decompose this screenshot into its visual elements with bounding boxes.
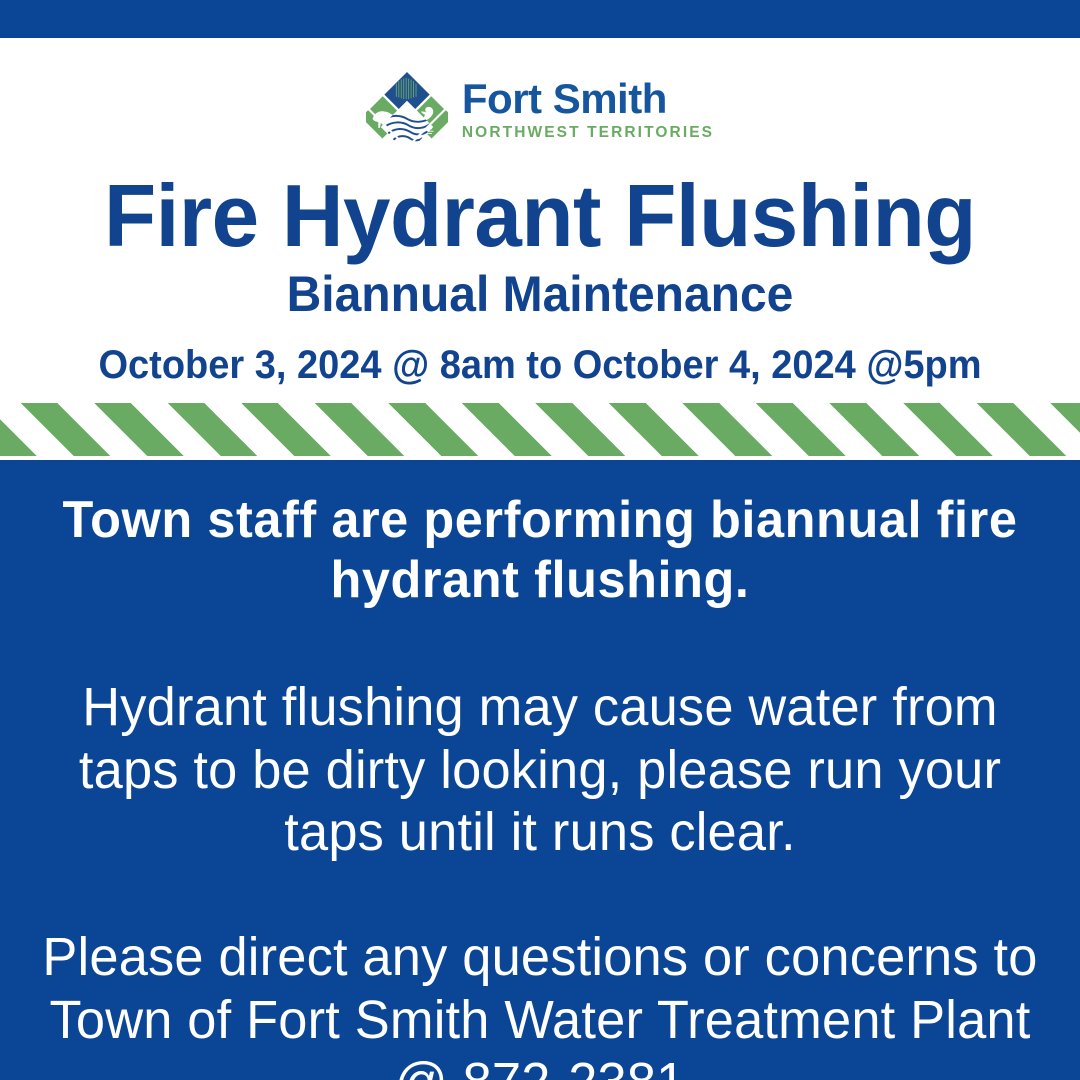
diagonal-stripe-divider: [0, 403, 1080, 456]
fort-smith-diamond-logo-icon: [366, 68, 448, 150]
logo-name: Fort Smith: [462, 78, 667, 121]
page-subtitle: Biannual Maintenance: [22, 268, 1059, 321]
event-dateline: October 3, 2024 @ 8am to October 4, 2024…: [27, 343, 1053, 387]
notice-paragraph-advisory: Hydrant flushing may cause water from ta…: [36, 676, 1045, 864]
poster-canvas: Fort Smith NORTHWEST TERRITORIES Fire Hy…: [0, 0, 1080, 1080]
top-accent-bar: [0, 0, 1080, 38]
paragraph-spacer: [20, 610, 1060, 676]
logo-tagline: NORTHWEST TERRITORIES: [462, 125, 714, 141]
paragraph-spacer: [20, 864, 1060, 926]
notice-paragraph-lead: Town staff are performing biannual fire …: [36, 490, 1045, 611]
notice-body: Town staff are performing biannual fire …: [0, 460, 1080, 1080]
page-title: Fire Hydrant Flushing: [16, 172, 1064, 260]
notice-paragraph-contact: Please direct any questions or concerns …: [36, 926, 1045, 1080]
poster-header: Fort Smith NORTHWEST TERRITORIES Fire Hy…: [0, 38, 1080, 387]
logo-lockup: Fort Smith NORTHWEST TERRITORIES: [0, 38, 1080, 158]
logo-wordmark: Fort Smith NORTHWEST TERRITORIES: [462, 78, 714, 140]
